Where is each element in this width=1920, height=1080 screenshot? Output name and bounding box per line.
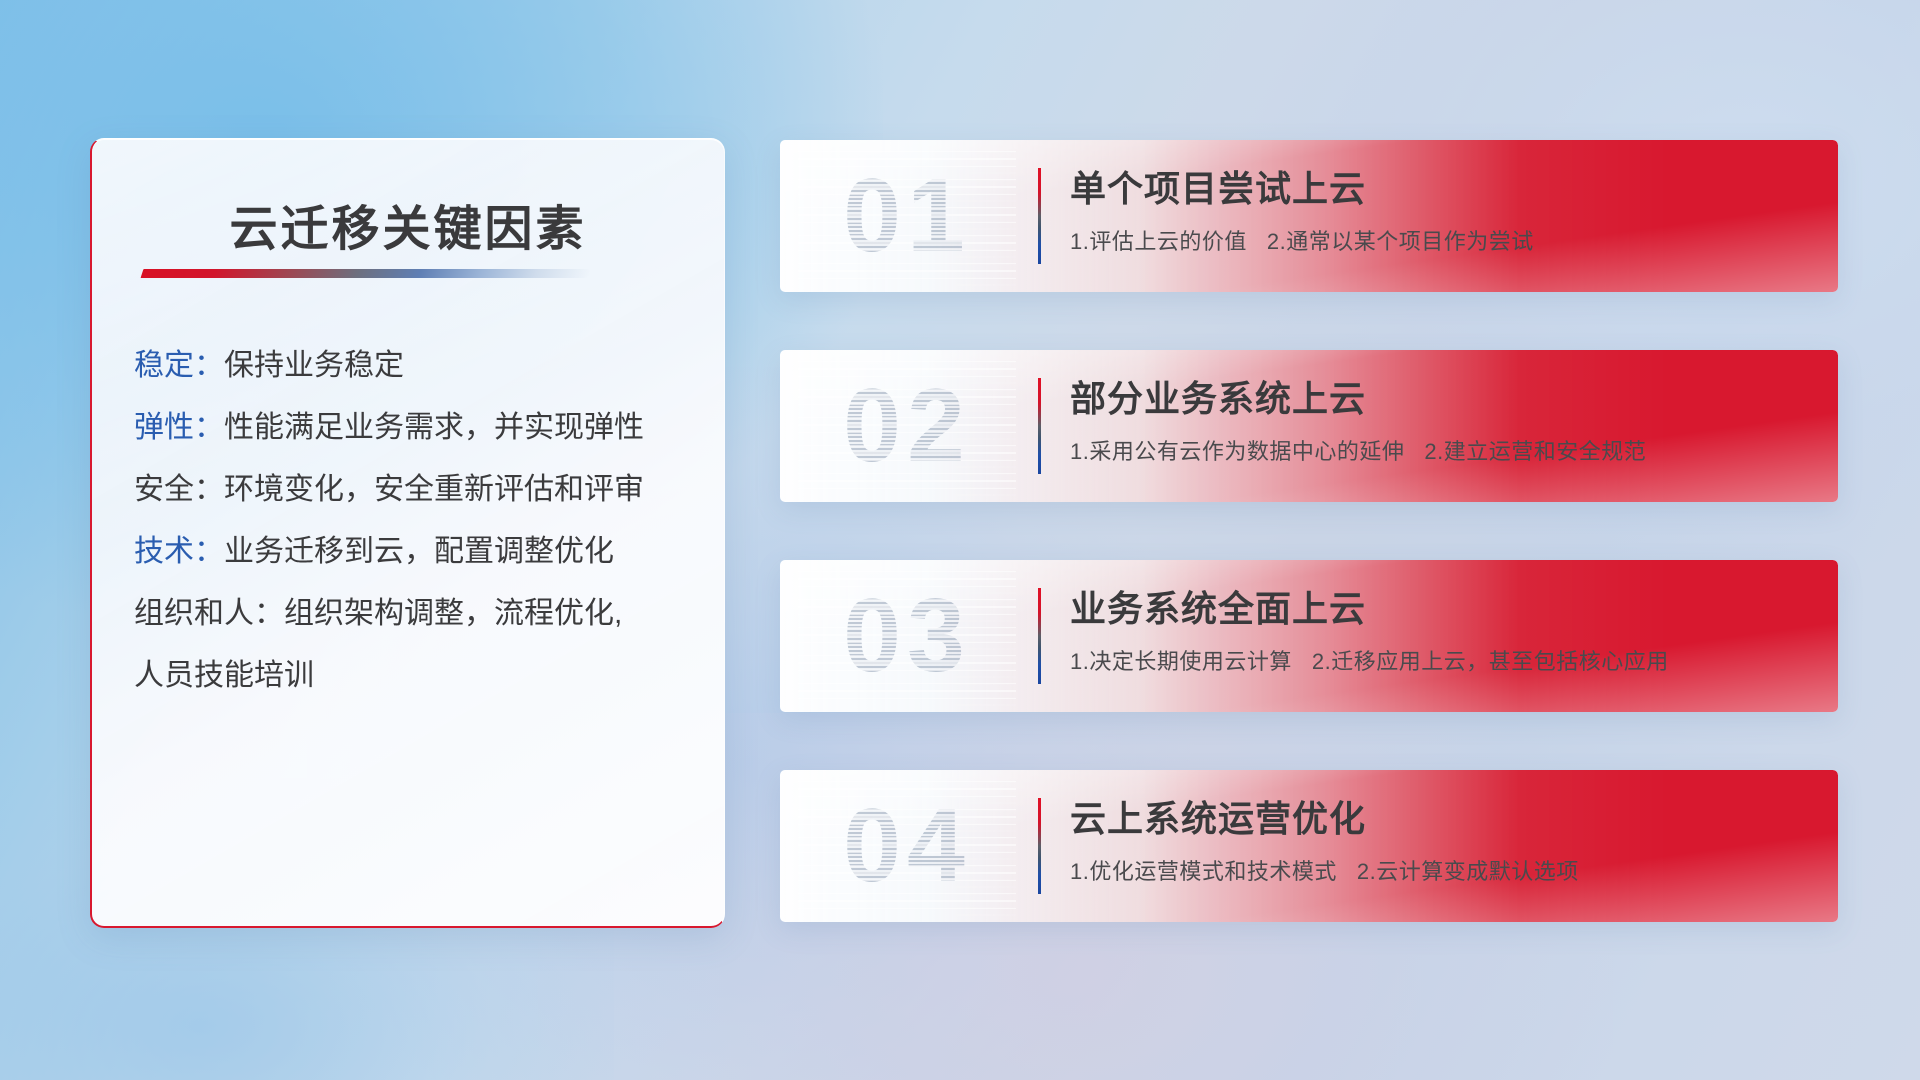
factor-row: 人员技能培训 <box>134 645 696 707</box>
card-accent-bar <box>1038 588 1041 684</box>
factor-text: 性能满足业务需求，并实现弹性 <box>224 411 644 444</box>
card-description: 1.采用公有云作为数据中心的延伸2.建立运营和安全规范 <box>1070 434 1646 466</box>
migration-stage-card[interactable]: 02部分业务系统上云1.采用公有云作为数据中心的延伸2.建立运营和安全规范 <box>780 350 1838 502</box>
card-description-item: 1.评估上云的价值 <box>1070 229 1247 254</box>
migration-stage-card[interactable]: 04云上系统运营优化1.优化运营模式和技术模式2.云计算变成默认选项 <box>780 770 1838 922</box>
step-number-watermark: 03 <box>798 566 1016 706</box>
card-title: 业务系统全面上云 <box>1070 580 1366 632</box>
factor-text: 保持业务稳定 <box>224 349 404 382</box>
card-description: 1.优化运营模式和技术模式2.云计算变成默认选项 <box>1070 854 1579 886</box>
card-description-item: 2.建立运营和安全规范 <box>1424 439 1646 464</box>
step-number-text: 02 <box>843 367 971 486</box>
factor-text: 业务迁移到云，配置调整优化 <box>224 535 614 568</box>
factor-label: 技术： <box>134 535 224 568</box>
factor-label: 安全： <box>134 473 224 506</box>
card-accent-bar <box>1038 798 1041 894</box>
factor-text: 组织架构调整，流程优化, <box>284 597 622 630</box>
page-title: 云迁移关键因素 <box>92 189 724 259</box>
factor-row: 弹性：性能满足业务需求，并实现弹性 <box>134 397 696 459</box>
step-number-watermark: 02 <box>798 356 1016 496</box>
migration-stage-card[interactable]: 01单个项目尝试上云1.评估上云的价值2.通常以某个项目作为尝试 <box>780 140 1838 292</box>
card-description-item: 1.决定长期使用云计算 <box>1070 649 1292 674</box>
factor-text: 环境变化，安全重新评估和评审 <box>224 473 644 506</box>
card-description-item: 1.采用公有云作为数据中心的延伸 <box>1070 439 1404 464</box>
step-number-text: 03 <box>843 577 971 696</box>
factor-label: 弹性： <box>134 411 224 444</box>
step-number-text: 04 <box>843 787 971 906</box>
step-number-watermark: 04 <box>798 776 1016 916</box>
slide-stage: 云迁移关键因素 稳定：保持业务稳定弹性：性能满足业务需求，并实现弹性安全：环境变… <box>0 0 1920 1080</box>
title-underline-accent <box>141 269 592 278</box>
card-description: 1.决定长期使用云计算2.迁移应用上云，甚至包括核心应用 <box>1070 644 1669 676</box>
card-title: 云上系统运营优化 <box>1070 790 1366 842</box>
card-title: 单个项目尝试上云 <box>1070 160 1366 212</box>
migration-stage-card[interactable]: 03业务系统全面上云1.决定长期使用云计算2.迁移应用上云，甚至包括核心应用 <box>780 560 1838 712</box>
factor-row: 稳定：保持业务稳定 <box>134 335 696 397</box>
step-number-watermark: 01 <box>798 146 1016 286</box>
card-description: 1.评估上云的价值2.通常以某个项目作为尝试 <box>1070 224 1534 256</box>
card-title: 部分业务系统上云 <box>1070 370 1366 422</box>
factor-text: 人员技能培训 <box>134 659 314 692</box>
card-description-item: 2.迁移应用上云，甚至包括核心应用 <box>1312 649 1669 674</box>
factor-label: 组织和人： <box>134 597 284 630</box>
card-description-item: 2.通常以某个项目作为尝试 <box>1267 229 1534 254</box>
factor-row: 安全：环境变化，安全重新评估和评审 <box>134 459 696 521</box>
card-description-item: 2.云计算变成默认选项 <box>1357 859 1579 884</box>
card-description-item: 1.优化运营模式和技术模式 <box>1070 859 1337 884</box>
migration-stage-card-list: 01单个项目尝试上云1.评估上云的价值2.通常以某个项目作为尝试02部分业务系统… <box>780 140 1838 980</box>
card-accent-bar <box>1038 378 1041 474</box>
card-accent-bar <box>1038 168 1041 264</box>
factor-label: 稳定： <box>134 349 224 382</box>
step-number-text: 01 <box>843 157 971 276</box>
factor-row: 组织和人：组织架构调整，流程优化, <box>134 583 696 645</box>
factor-list: 稳定：保持业务稳定弹性：性能满足业务需求，并实现弹性安全：环境变化，安全重新评估… <box>134 335 696 707</box>
key-factors-panel: 云迁移关键因素 稳定：保持业务稳定弹性：性能满足业务需求，并实现弹性安全：环境变… <box>90 138 725 928</box>
factor-row: 技术：业务迁移到云，配置调整优化 <box>134 521 696 583</box>
